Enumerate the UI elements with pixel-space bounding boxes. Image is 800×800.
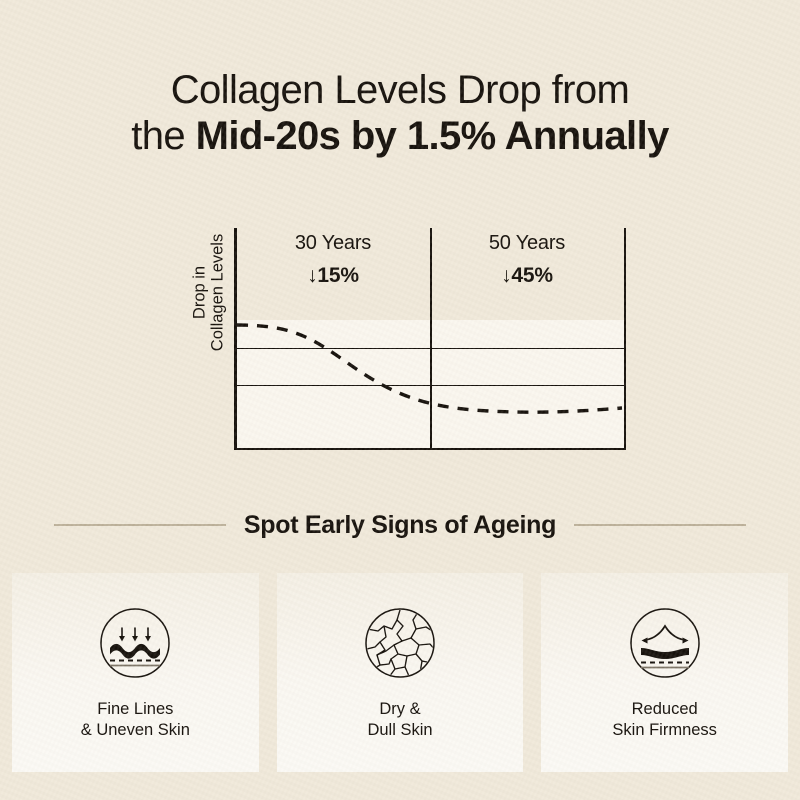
title-line-1: Collagen Levels Drop from [0,68,800,114]
title-line-2-prefix: the [131,114,195,158]
card-reduced-firmness-label: Reduced Skin Firmness [612,699,717,741]
dry-dull-skin-icon [364,607,436,679]
annotation-50-years-drop: ↓45% [430,264,624,288]
fine-lines-icon [99,607,171,679]
annotation-30-years-age: 30 Years [236,232,430,255]
page-title: Collagen Levels Drop from the Mid-20s by… [0,68,800,159]
card-dry-dull-skin: Dry & Dull Skin [277,573,524,772]
card-dry-dull-skin-label: Dry & Dull Skin [367,699,432,741]
card-fine-lines-label: Fine Lines & Uneven Skin [81,699,190,741]
annotation-50-years: 50 Years ↓45% [430,232,624,288]
collagen-decline-chart: Drop in Collagen Levels 30 Years ↓15% 50… [176,228,636,466]
title-line-2: the Mid-20s by 1.5% Annually [0,114,800,160]
title-line-2-emphasis: Mid-20s by 1.5% Annually [196,114,669,158]
ageing-signs-card-list: Fine Lines & Uneven Skin [12,573,788,772]
section-heading-text: Spot Early Signs of Ageing [244,511,556,540]
reduced-firmness-icon [629,607,701,679]
divider-rule-left [54,524,226,526]
annotation-30-years-drop: ↓15% [236,264,430,288]
annotation-30-years: 30 Years ↓15% [236,232,430,288]
annotation-50-years-age: 50 Years [430,232,624,255]
section-heading: Spot Early Signs of Ageing [0,505,800,545]
card-reduced-firmness: Reduced Skin Firmness [541,573,788,772]
card-fine-lines: Fine Lines & Uneven Skin [12,573,259,772]
chart-y-axis-label: Drop in Collagen Levels [191,207,228,377]
divider-rule-right [574,524,746,526]
chart-annotations: 30 Years ↓15% 50 Years ↓45% [234,232,626,318]
